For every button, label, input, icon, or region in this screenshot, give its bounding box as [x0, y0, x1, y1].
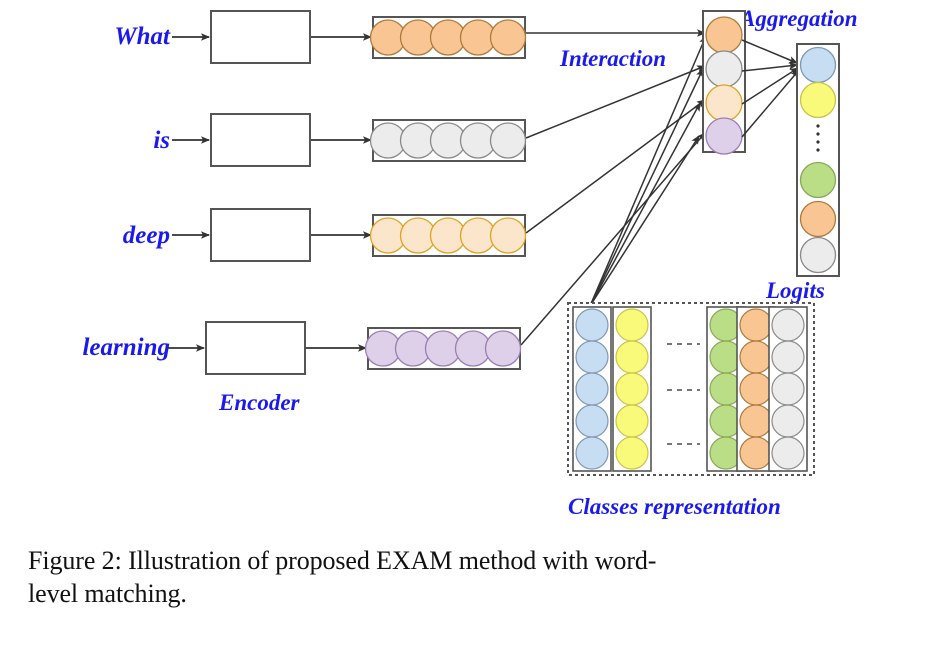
logits-column: [797, 44, 839, 276]
logits-cell: [801, 238, 836, 273]
interaction-cell: [706, 85, 742, 121]
arrow-classes-interaction-0: [590, 36, 706, 306]
interaction-cell: [706, 51, 742, 87]
encoder-to-vector-arrows: [306, 37, 371, 348]
interaction-cell: [706, 118, 742, 154]
class-cell: [740, 437, 772, 469]
figure-caption-line-1: Figure 2: Illustration of proposed EXAM …: [28, 545, 908, 578]
classes-column-gray: [769, 307, 807, 471]
logits-cell: [801, 83, 836, 118]
classes-representation-block: [568, 303, 814, 475]
class-cell: [616, 373, 648, 405]
diagram-canvas: [0, 0, 936, 540]
vector-cell: [491, 20, 526, 55]
word-vector-0: [371, 17, 526, 58]
class-cell: [616, 309, 648, 341]
interaction-column: [703, 11, 745, 154]
encoder-box-group: [206, 11, 310, 374]
class-cell: [740, 373, 772, 405]
class-cell: [772, 341, 804, 373]
vector-cell: [486, 331, 521, 366]
arrow-aggregation-0: [742, 40, 797, 63]
word-vector-1: [371, 120, 526, 161]
word-vector-2: [371, 215, 526, 256]
classes-column-blue: [573, 307, 611, 471]
arrow-aggregation-3: [742, 70, 799, 137]
word-vector-3: [366, 328, 521, 369]
classes-column-yellow: [613, 307, 651, 471]
class-cell: [772, 437, 804, 469]
interaction-cell: [706, 17, 742, 53]
arrow-aggregation-2: [742, 68, 798, 104]
class-cell: [740, 341, 772, 373]
class-cell: [576, 437, 608, 469]
logits-cell: [801, 48, 836, 83]
encoder-box-2: [211, 209, 310, 261]
class-cell: [576, 341, 608, 373]
encoder-box-0: [211, 11, 310, 63]
class-cell: [576, 309, 608, 341]
arrow-classes-interaction-2: [590, 103, 700, 306]
class-cell: [576, 405, 608, 437]
class-cell: [616, 405, 648, 437]
class-cell: [616, 341, 648, 373]
aggregation-arrows: [742, 40, 799, 137]
logits-cell: [801, 163, 836, 198]
class-cell: [740, 309, 772, 341]
figure-caption: Figure 2: Illustration of proposed EXAM …: [28, 545, 908, 610]
arrow-classes-interaction-3: [590, 136, 699, 306]
classes-to-interaction-arrows: [590, 36, 706, 306]
word-to-encoder-arrows: [167, 37, 209, 348]
vector-to-interaction-arrows: [521, 33, 705, 345]
class-cell: [772, 373, 804, 405]
encoder-box-3: [206, 322, 305, 374]
encoder-box-1: [211, 114, 310, 166]
arrow-classes-interaction-1: [590, 69, 703, 306]
class-cell: [772, 309, 804, 341]
class-cell: [740, 405, 772, 437]
vector-cell: [491, 218, 526, 253]
arrow-aggregation-1: [742, 65, 797, 71]
vector-cell: [491, 123, 526, 158]
logits-cell: [801, 202, 836, 237]
figure-2-exam-method: What is deep learning Encoder Interactio…: [0, 0, 936, 654]
class-cell: [772, 405, 804, 437]
class-cell: [616, 437, 648, 469]
class-cell: [576, 373, 608, 405]
figure-caption-line-2: level matching.: [28, 578, 908, 611]
